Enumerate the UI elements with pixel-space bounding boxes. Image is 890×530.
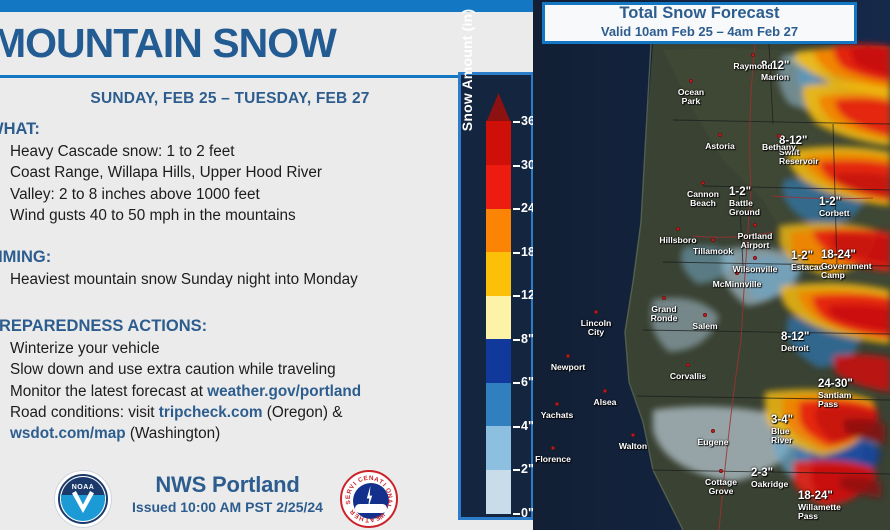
map-amount-value: 1-2" — [729, 186, 760, 198]
legend-segment-8 — [486, 295, 511, 339]
list-item-suffix: (Oregon) & — [263, 404, 343, 421]
map-amount-place: WillamettePass — [798, 503, 841, 521]
snow-amount-legend: Snow Amount (in) 0"2"4"6"8"12"18"24"30"3… — [458, 72, 534, 520]
forecast-map-panel[interactable]: Total Snow Forecast Valid 10am Feb 25 – … — [533, 0, 890, 530]
section-timing: TIMING: Heaviest mountain snow Sunday ni… — [0, 248, 458, 291]
map-city-marker — [676, 227, 680, 231]
map-valid-time: Valid 10am Feb 25 – 4am Feb 27 — [542, 24, 857, 39]
legend-max-arrow — [486, 93, 511, 123]
legend-tick — [513, 252, 520, 254]
link-wsdot-map[interactable]: wsdot.com/map — [10, 425, 126, 442]
legend-segment-18 — [486, 208, 511, 252]
nws-logo-ring-text: NATIONAL WEATHER SERVICE — [342, 472, 396, 526]
list-item: Wind gusts 40 to 50 mph in the mountains — [0, 206, 458, 226]
map-amount-place: Oakridge — [751, 480, 788, 489]
map-city-marker — [551, 446, 555, 450]
map-city-label: CannonBeach — [687, 190, 719, 208]
legend-axis-label: Snow Amount (in) — [459, 0, 475, 175]
list-item-label: Monitor the latest forecast at — [10, 383, 207, 400]
map-city-marker — [686, 363, 690, 367]
list-item: Road conditions: visit tripcheck.com (Or… — [0, 403, 458, 423]
list-item-continuation: Valley: 2 to 8 inches above 1000 feet — [0, 185, 458, 205]
office-name: NWS Portland — [120, 472, 335, 498]
map-amount-value: 18-24" — [821, 249, 872, 261]
legend-tick — [513, 339, 520, 341]
footer: NOAA NWS Portland Issued 10:00 AM PST 2/… — [0, 464, 470, 530]
noaa-logo-icon: NOAA — [54, 470, 112, 528]
map-amount-label: 1-2"BattleGround — [729, 186, 760, 217]
map-city-marker — [751, 53, 755, 57]
map-amount-label: 8-12"Detroit — [781, 331, 809, 353]
legend-tick — [513, 121, 520, 123]
list-item: Coast Range, Willapa Hills, Upper Hood R… — [0, 163, 458, 183]
map-city-marker — [662, 296, 666, 300]
map-amount-value: 8-12" — [781, 331, 809, 343]
list-item: Heaviest mountain snow Sunday night into… — [0, 270, 458, 290]
legend-segment-4 — [486, 382, 511, 426]
map-amount-label: 24-30"SantiamPass — [818, 378, 853, 409]
noaa-logo-label: NOAA — [55, 484, 111, 491]
legend-tick-label: 2" — [521, 462, 534, 476]
map-amount-label: 18-24"WillamettePass — [798, 490, 841, 521]
legend-tick — [513, 469, 520, 471]
map-city-marker — [777, 134, 781, 138]
list-item-continuation: wsdot.com/map (Washington) — [0, 424, 458, 444]
map-city-label: Corvallis — [670, 372, 706, 381]
section-what: WHAT: Heavy Cascade snow: 1 to 2 feet Co… — [0, 120, 458, 227]
map-amount-value: 3-4" — [771, 414, 793, 426]
map-city-marker — [718, 133, 722, 137]
map-city-label: GrandRonde — [651, 305, 678, 323]
legend-tick — [513, 208, 520, 210]
legend-segment-30 — [486, 121, 511, 165]
list-item: Slow down and use extra caution while tr… — [0, 360, 458, 380]
list-item-suffix: (Washington) — [126, 425, 221, 442]
legend-tick — [513, 426, 520, 428]
section-timing-list: Heaviest mountain snow Sunday night into… — [0, 270, 458, 290]
legend-tick — [513, 513, 520, 515]
map-amount-label: 1-2"Corbett — [819, 196, 850, 218]
nws-logo-icon: NATIONAL WEATHER SERVICE — [340, 470, 398, 528]
section-preparedness-heading: PREPAREDNESS ACTIONS: — [0, 317, 458, 336]
map-city-marker — [701, 181, 705, 185]
map-city-label: CottageGrove — [705, 478, 737, 496]
map-amount-value: 2-3" — [751, 467, 788, 479]
map-city-marker — [555, 402, 559, 406]
weather-graphic: MOUNTAIN SNOW SUNDAY, FEB 25 – TUESDAY, … — [0, 0, 890, 530]
map-city-label: Astoria — [705, 142, 735, 151]
info-panel: MOUNTAIN SNOW SUNDAY, FEB 25 – TUESDAY, … — [0, 12, 533, 530]
map-city-label: LincolnCity — [581, 319, 612, 337]
section-what-list: Heavy Cascade snow: 1 to 2 feet Coast Ra… — [0, 142, 458, 226]
legend-tick-label: 8" — [521, 332, 534, 346]
map-amount-place: Marion — [761, 73, 789, 82]
map-city-label: Salem — [692, 322, 717, 331]
map-amount-label: 3-4"BlueRiver — [771, 414, 793, 445]
legend-tick — [513, 165, 520, 167]
map-amount-place: GovernmentCamp — [821, 262, 872, 280]
map-amount-place: Detroit — [781, 344, 809, 353]
section-preparedness-list: Winterize your vehicle Slow down and use… — [0, 339, 458, 445]
map-city-marker — [603, 389, 607, 393]
map-amount-label: 2-3"Oakridge — [751, 467, 788, 489]
map-amount-value: 18-24" — [798, 490, 841, 502]
map-city-label: Eugene — [697, 438, 728, 447]
map-city-label: OceanPark — [678, 88, 704, 106]
list-item: Winterize your vehicle — [0, 339, 458, 359]
section-timing-heading: TIMING: — [0, 248, 458, 267]
map-city-marker — [711, 429, 715, 433]
map-city-label: Tillamook — [693, 247, 733, 256]
map-city-marker — [594, 310, 598, 314]
title-divider — [0, 75, 462, 78]
map-city-label: Newport — [551, 363, 585, 372]
page-title: MOUNTAIN SNOW — [0, 20, 472, 67]
map-city-label: Bethany — [762, 143, 796, 152]
top-accent-bar — [0, 0, 533, 12]
map-amount-place: SantiamPass — [818, 391, 853, 409]
map-city-label: Florence — [535, 455, 571, 464]
map-amount-place: Corbett — [819, 209, 850, 218]
map-amount-label: 18-24"GovernmentCamp — [821, 249, 872, 280]
map-amount-place: BlueRiver — [771, 427, 793, 445]
map-city-label: Hillsboro — [659, 236, 696, 245]
legend-segment-0 — [486, 469, 511, 513]
legend-segment-2 — [486, 426, 511, 470]
map-city-marker — [703, 313, 707, 317]
map-amount-place: BattleGround — [729, 199, 760, 217]
map-city-marker — [711, 238, 715, 242]
legend-tick — [513, 382, 520, 384]
map-amount-value: 24-30" — [818, 378, 853, 390]
legend-tick-label: 4" — [521, 419, 534, 433]
office-block: NWS Portland Issued 10:00 AM PST 2/25/24 — [120, 472, 335, 515]
list-item-label: Road conditions: visit — [10, 404, 159, 421]
link-tripcheck[interactable]: tripcheck.com — [159, 404, 263, 421]
map-city-label: Wilsonville — [733, 265, 778, 274]
link-weather-gov-portland[interactable]: weather.gov/portland — [207, 383, 361, 400]
map-city-marker — [631, 433, 635, 437]
map-city-label: McMinnville — [713, 280, 762, 289]
list-item: Heavy Cascade snow: 1 to 2 feet — [0, 142, 458, 162]
map-title-block: Total Snow Forecast Valid 10am Feb 25 – … — [542, 4, 857, 39]
map-city-label: Yachats — [541, 411, 574, 420]
legend-segment-6 — [486, 339, 511, 383]
map-city-label: Alsea — [594, 398, 617, 407]
section-what-heading: WHAT: — [0, 120, 458, 139]
map-city-marker — [719, 469, 723, 473]
legend-segment-24 — [486, 165, 511, 209]
map-city-label: PortlandAirport — [738, 232, 773, 250]
legend-color-bar — [486, 121, 511, 507]
map-city-marker — [753, 256, 757, 260]
map-city-label: Walton — [619, 442, 647, 451]
issued-timestamp: Issued 10:00 AM PST 2/25/24 — [120, 499, 335, 515]
map-city-marker — [689, 79, 693, 83]
legend-segment-12 — [486, 252, 511, 296]
legend-tick-label: 6" — [521, 375, 534, 389]
section-preparedness: PREPAREDNESS ACTIONS: Winterize your veh… — [0, 317, 458, 446]
map-amount-value: 1-2" — [819, 196, 850, 208]
legend-tick-label: 0" — [521, 506, 534, 520]
legend-tick — [513, 295, 520, 297]
map-city-marker — [753, 223, 757, 227]
map-title: Total Snow Forecast — [542, 4, 857, 23]
list-item: Monitor the latest forecast at weather.g… — [0, 382, 458, 402]
map-city-label: Raymond — [733, 62, 772, 71]
map-city-marker — [566, 354, 570, 358]
date-range-subtitle: SUNDAY, FEB 25 – TUESDAY, FEB 27 — [0, 90, 460, 108]
